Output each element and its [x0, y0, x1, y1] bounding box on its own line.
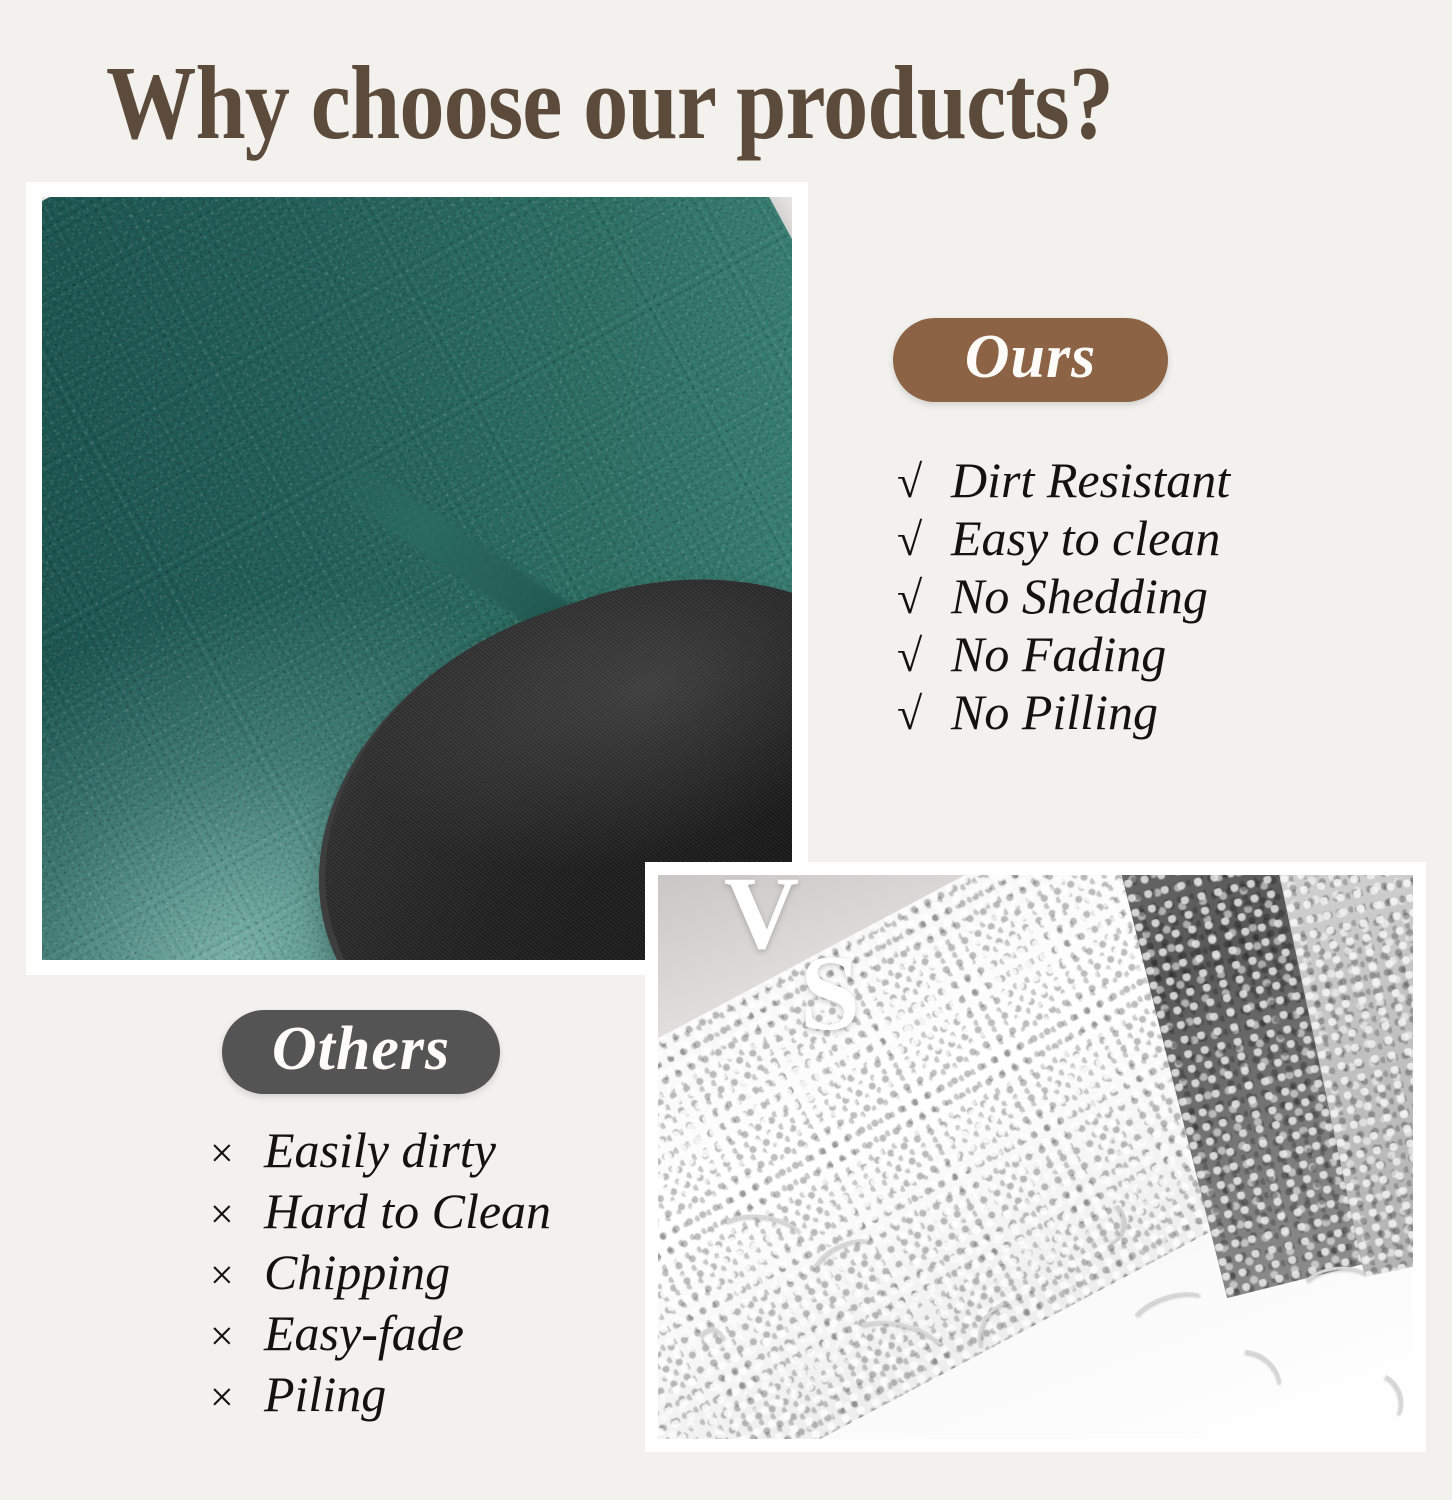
list-item: × Hard to Clean — [210, 1183, 551, 1244]
ours-badge: Ours — [893, 318, 1168, 402]
cross-icon: × — [210, 1370, 264, 1427]
vs-letter-v: V — [724, 862, 799, 966]
cross-icon: × — [210, 1187, 264, 1244]
cross-icon: × — [210, 1248, 264, 1305]
check-icon: √ — [897, 685, 951, 742]
feature-label: Chipping — [264, 1244, 450, 1301]
feature-label: Easy-fade — [264, 1305, 464, 1362]
infographic-page: Why choose our products? — [0, 0, 1452, 1500]
feature-label: Hard to Clean — [264, 1183, 551, 1240]
list-item: √ No Pilling — [897, 684, 1230, 742]
vs-letter-s: S — [800, 940, 860, 1048]
check-icon: √ — [897, 627, 951, 684]
list-item: √ No Fading — [897, 626, 1230, 684]
cross-icon: × — [210, 1309, 264, 1366]
feature-label: No Fading — [951, 626, 1166, 683]
ours-feature-list: √ Dirt Resistant √ Easy to clean √ No Sh… — [897, 452, 1230, 742]
check-icon: √ — [897, 511, 951, 568]
list-item: √ Dirt Resistant — [897, 452, 1230, 510]
feature-label: Easily dirty — [264, 1122, 496, 1179]
ours-product-photo — [42, 197, 792, 960]
feature-label: Dirt Resistant — [951, 452, 1230, 509]
check-icon: √ — [897, 453, 951, 510]
others-badge: Others — [222, 1010, 500, 1094]
feature-label: No Pilling — [951, 684, 1158, 741]
list-item: × Easy-fade — [210, 1305, 551, 1366]
others-feature-list: × Easily dirty × Hard to Clean × Chippin… — [210, 1122, 551, 1427]
check-icon: √ — [897, 569, 951, 626]
feature-label: Easy to clean — [951, 510, 1220, 567]
feature-label: No Shedding — [951, 568, 1208, 625]
cross-icon: × — [210, 1126, 264, 1183]
list-item: × Piling — [210, 1366, 551, 1427]
list-item: √ Easy to clean — [897, 510, 1230, 568]
list-item: × Chipping — [210, 1244, 551, 1305]
ours-photo-frame — [26, 182, 808, 975]
list-item: √ No Shedding — [897, 568, 1230, 626]
page-title: Why choose our products? — [106, 48, 1207, 158]
list-item: × Easily dirty — [210, 1122, 551, 1183]
feature-label: Piling — [264, 1366, 386, 1423]
